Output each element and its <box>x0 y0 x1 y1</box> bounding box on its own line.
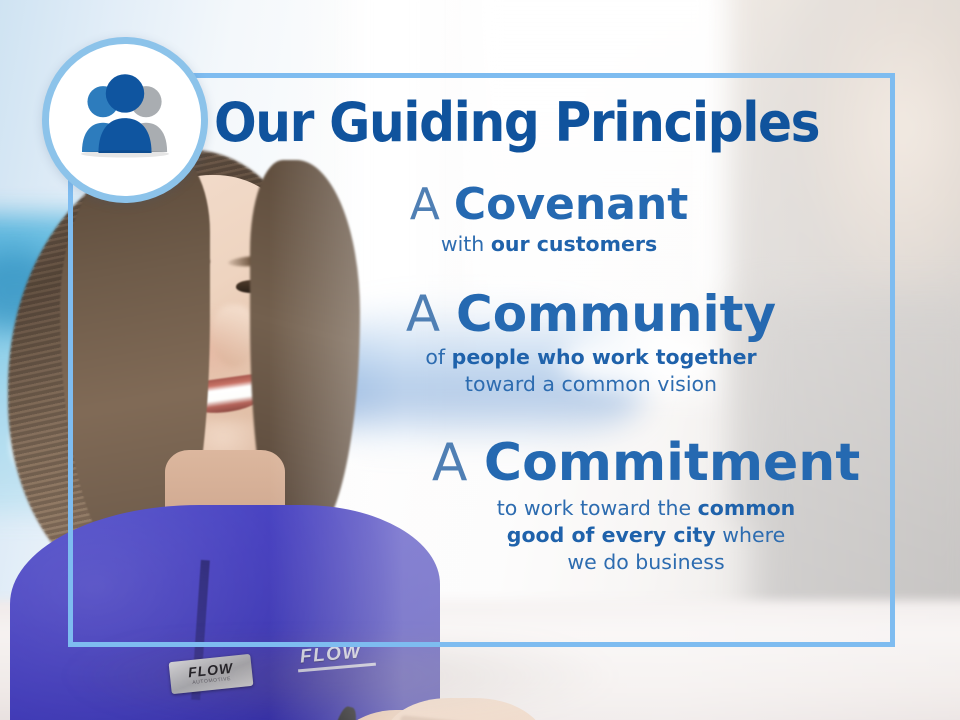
principles-list: A Covenant with our customers A Communit… <box>240 180 876 582</box>
principle-community-article: A <box>406 285 456 343</box>
table-contact-shadow <box>60 640 620 720</box>
principle-covenant-title: A Covenant <box>240 180 858 229</box>
principle-covenant-article: A <box>410 179 454 230</box>
people-icon-badge <box>42 37 208 203</box>
principle-covenant-sub-line-1: with our customers <box>240 231 858 258</box>
principle-covenant-subtitle: with our customers <box>240 231 858 258</box>
guiding-principles-graphic: FLOW AUTOMOTIVE FLOW <box>0 0 960 720</box>
page-title: Our Guiding Principles <box>214 96 846 150</box>
people-icon-shadow <box>81 150 169 157</box>
principle-commitment-sub-line-2: good of every city where <box>416 522 876 549</box>
principle-community: A Community of people who work together … <box>240 286 876 398</box>
principle-commitment-keyword: Commitment <box>484 433 860 493</box>
principle-commitment-sub-line-1: to work toward the common <box>416 495 876 522</box>
people-group-icon <box>49 44 201 196</box>
principle-covenant-keyword: Covenant <box>454 179 688 230</box>
principle-community-sub-line-2: toward a common vision <box>306 371 876 398</box>
principle-commitment-sub-line-3: we do business <box>416 549 876 576</box>
principle-commitment-article: A <box>432 433 484 493</box>
principle-community-title: A Community <box>306 286 876 342</box>
principle-commitment-title: A Commitment <box>416 434 876 492</box>
principle-community-sub-line-1: of people who work together <box>306 344 876 371</box>
principle-commitment: A Commitment to work toward the common g… <box>240 434 876 575</box>
principle-commitment-subtitle: to work toward the common good of every … <box>416 495 876 576</box>
principle-covenant: A Covenant with our customers <box>240 180 876 258</box>
principle-community-subtitle: of people who work together toward a com… <box>306 344 876 398</box>
principle-community-keyword: Community <box>456 285 776 343</box>
